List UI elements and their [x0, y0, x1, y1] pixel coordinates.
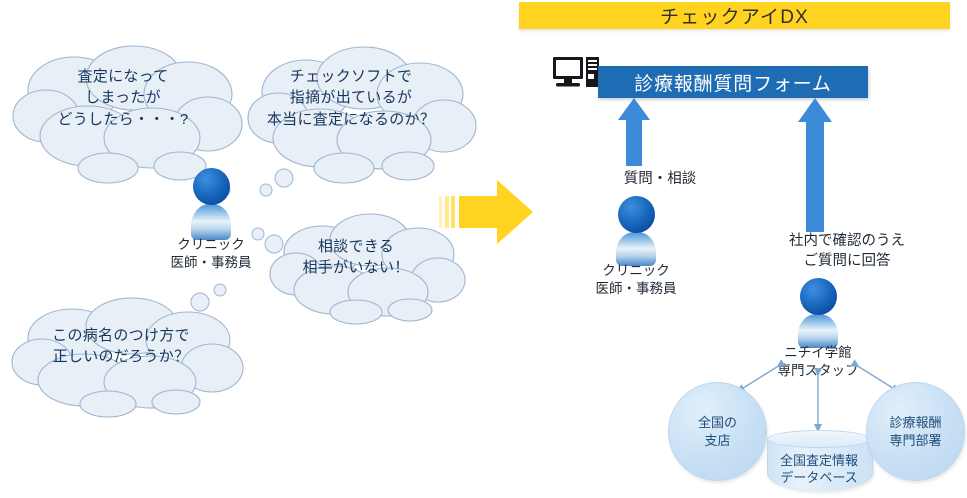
- answer-up-arrow-icon: [798, 98, 832, 232]
- page-title-banner: チェックアイDX: [519, 2, 950, 29]
- branch-circle: 全国の 支店: [668, 382, 767, 481]
- caption-line: クリニック: [177, 237, 245, 252]
- question-up-arrow-icon: [618, 98, 650, 166]
- branch-circle-text: 全国の 支店: [698, 414, 737, 448]
- circle-line: 全国の: [698, 415, 737, 430]
- person-body: [798, 314, 838, 348]
- diagram-canvas: 査定になって しまったが どうしたら・・・? チェ: [0, 0, 967, 498]
- thought-cloud-assessment: 査定になって しまったが どうしたら・・・?: [12, 38, 234, 158]
- caption-line: ニチイ学館: [784, 345, 852, 360]
- page-title: チェックアイDX: [660, 2, 809, 29]
- form-bar[interactable]: 診療報酬質問フォーム: [598, 66, 868, 98]
- answer-label: 社内で確認のうえ ご質問に回答: [742, 232, 952, 271]
- thought-cloud-check-software: チェックソフトで 指摘が出ているが 本当に査定になるのか？: [248, 38, 454, 158]
- department-circle-text: 診療報酬 専門部署: [889, 414, 941, 448]
- person-caption: クリニック 医師・事務員: [536, 262, 736, 298]
- circle-line: 診療報酬: [889, 415, 941, 430]
- person-head: [800, 278, 837, 315]
- caption-line: 専門スタッフ: [778, 363, 859, 378]
- cylinder-top: [767, 430, 871, 448]
- person-body: [191, 204, 231, 240]
- caption-line: クリニック: [602, 263, 670, 278]
- caption-line: 医師・事務員: [171, 255, 252, 270]
- person-body: [616, 232, 656, 266]
- person-head: [193, 168, 230, 205]
- department-circle: 診療報酬 専門部署: [866, 382, 965, 481]
- person-head: [618, 196, 655, 233]
- person-caption: ニチイ学館 専門スタッフ: [718, 344, 918, 380]
- right-arrow-icon: [437, 176, 537, 248]
- cloud-shape: [248, 38, 498, 198]
- clinic-person-left: クリニック 医師・事務員: [183, 168, 239, 248]
- thought-cloud-disease-name: この病名のつけ方で 正しいのだろうか？: [10, 292, 232, 400]
- form-bar-label: 診療報酬質問フォーム: [634, 69, 831, 96]
- clinic-person-right: クリニック 医師・事務員: [608, 196, 664, 276]
- caption-line: 医師・事務員: [596, 281, 677, 296]
- question-label-text: 質問・相談: [624, 171, 697, 187]
- question-label: 質問・相談: [600, 170, 720, 190]
- answer-label-line: ご質問に回答: [804, 253, 891, 269]
- answer-label-line: 社内で確認のうえ: [789, 233, 905, 249]
- person-caption: クリニック 医師・事務員: [111, 236, 311, 272]
- circle-line: 支店: [704, 433, 730, 448]
- circle-line: 専門部署: [889, 433, 941, 448]
- cloud-shape: [10, 292, 260, 422]
- database-cylinder: 全国査定情報 データベース: [767, 430, 871, 498]
- staff-person: ニチイ学館 専門スタッフ: [790, 278, 846, 358]
- desktop-computer-icon: [552, 55, 604, 95]
